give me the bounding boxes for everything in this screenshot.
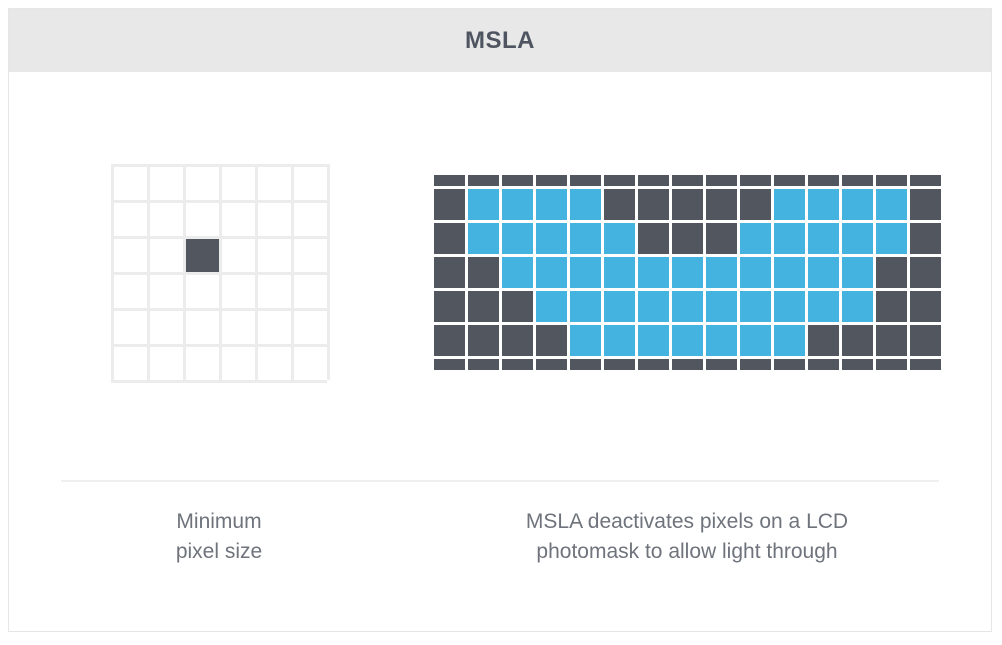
- photomask-pixel-grid: [434, 155, 941, 390]
- photomask-pixel-inactive: [706, 359, 737, 370]
- photomask-pixel-inactive: [434, 223, 465, 254]
- photomask-pixel-active: [604, 325, 635, 356]
- minimum-pixel-grid: [111, 164, 327, 380]
- msla-card: MSLA Minimum pixel size MSLA deactivates…: [8, 8, 992, 632]
- photomask-pixel-inactive: [570, 359, 601, 370]
- grid-line-horizontal: [111, 344, 327, 347]
- photomask-pixel-active: [774, 257, 805, 288]
- photomask-pixel-active: [672, 325, 703, 356]
- photomask-pixel-active: [842, 291, 873, 322]
- photomask-pixel-inactive: [536, 359, 567, 370]
- photomask-pixel-inactive: [672, 223, 703, 254]
- photomask-pixel-inactive: [604, 175, 635, 186]
- photomask-pixel-inactive: [706, 223, 737, 254]
- photomask-pixel-inactive: [808, 325, 839, 356]
- photomask-pixel-inactive: [468, 175, 499, 186]
- photomask-caption: MSLA deactivates pixels on a LCD photoma…: [429, 507, 991, 567]
- photomask-pixel-inactive: [468, 291, 499, 322]
- photomask-pixel-active: [808, 291, 839, 322]
- page-title: MSLA: [465, 27, 535, 55]
- photomask-pixel-inactive: [910, 189, 941, 220]
- photomask-pixel-active: [638, 325, 669, 356]
- photomask-pixel-inactive: [740, 175, 771, 186]
- minimum-pixel-caption-text: Minimum pixel size: [9, 507, 429, 567]
- photomask-pixel-inactive: [570, 175, 601, 186]
- photomask-pixel-inactive: [638, 189, 669, 220]
- photomask-pixel-inactive: [706, 189, 737, 220]
- photomask-pixel-active: [536, 223, 567, 254]
- grid-line-horizontal: [111, 380, 327, 383]
- photomask-pixel-active: [808, 189, 839, 220]
- photomask-pixel-inactive: [842, 325, 873, 356]
- photomask-pixel-inactive: [774, 359, 805, 370]
- photomask-pixel-inactive: [910, 223, 941, 254]
- photomask-pixel-inactive: [876, 325, 907, 356]
- photomask-pixel-inactive: [808, 359, 839, 370]
- photomask-pixel-inactive: [706, 175, 737, 186]
- photomask-pixel-inactive: [468, 359, 499, 370]
- photomask-pixel-inactive: [638, 175, 669, 186]
- photomask-pixel-inactive: [434, 257, 465, 288]
- photomask-pixel-active: [570, 325, 601, 356]
- photomask-pixel-active: [740, 325, 771, 356]
- photomask-pixel-active: [604, 223, 635, 254]
- photomask-pixel-active: [842, 223, 873, 254]
- photomask-pixel-inactive: [910, 291, 941, 322]
- photomask-pixel-active: [774, 223, 805, 254]
- photomask-pixel-inactive: [434, 189, 465, 220]
- captions-row: Minimum pixel size MSLA deactivates pixe…: [9, 507, 991, 567]
- photomask-pixel-active: [706, 291, 737, 322]
- photomask-pixel-inactive: [434, 291, 465, 322]
- grid-line-vertical: [219, 164, 222, 380]
- photomask-pixel-active: [638, 291, 669, 322]
- photomask-pixel-active: [468, 223, 499, 254]
- photomask-pixel-inactive: [740, 189, 771, 220]
- photomask-pixel-inactive: [774, 175, 805, 186]
- photomask-pixel-inactive: [502, 359, 533, 370]
- photomask-pixel-active: [604, 257, 635, 288]
- photomask-pixel-inactive: [434, 175, 465, 186]
- grid-line-vertical: [327, 164, 330, 380]
- photomask-pixel-active: [502, 257, 533, 288]
- minimum-pixel-cell: [186, 239, 219, 272]
- photomask-pixel-active: [774, 291, 805, 322]
- photomask-pixel-inactive: [502, 291, 533, 322]
- card-body: Minimum pixel size MSLA deactivates pixe…: [9, 72, 991, 631]
- photomask-pixel-active: [706, 257, 737, 288]
- photomask-pixel-active: [706, 325, 737, 356]
- photomask-pixel-active: [876, 189, 907, 220]
- photomask-pixel-inactive: [434, 359, 465, 370]
- photomask-pixel-inactive: [672, 189, 703, 220]
- photomask-pixel-active: [638, 257, 669, 288]
- photomask-pixel-inactive: [876, 257, 907, 288]
- photomask-pixel-active: [774, 325, 805, 356]
- photomask-pixel-active: [536, 189, 567, 220]
- grid-line-horizontal: [111, 308, 327, 311]
- photomask-pixel-inactive: [876, 175, 907, 186]
- photomask-pixel-active: [468, 189, 499, 220]
- photomask-pixel-active: [502, 223, 533, 254]
- photomask-pixel-active: [570, 223, 601, 254]
- photomask-pixel-active: [604, 291, 635, 322]
- photomask-pixel-active: [774, 189, 805, 220]
- photomask-pixel-inactive: [910, 359, 941, 370]
- photomask-pixel-inactive: [638, 223, 669, 254]
- photomask-pixel-active: [808, 257, 839, 288]
- card-header: MSLA: [9, 9, 991, 72]
- grid-line-vertical: [291, 164, 294, 380]
- photomask-pixel-inactive: [876, 359, 907, 370]
- photomask-pixel-inactive: [876, 291, 907, 322]
- photomask-pixel-active: [570, 257, 601, 288]
- photomask-pixel-active: [740, 223, 771, 254]
- photomask-pixel-active: [842, 257, 873, 288]
- photomask-pixel-active: [672, 291, 703, 322]
- photomask-pixel-inactive: [808, 175, 839, 186]
- photomask-pixel-inactive: [604, 359, 635, 370]
- photomask-pixel-inactive: [842, 175, 873, 186]
- photomask-pixel-active: [740, 291, 771, 322]
- photomask-pixel-active: [502, 189, 533, 220]
- photomask-pixel-active: [808, 223, 839, 254]
- photomask-pixel-inactive: [536, 325, 567, 356]
- photomask-pixel-inactive: [638, 359, 669, 370]
- photomask-pixel-active: [876, 223, 907, 254]
- photomask-pixel-inactive: [502, 175, 533, 186]
- photomask-pixel-active: [570, 189, 601, 220]
- minimum-pixel-panel: [9, 164, 429, 380]
- photomask-pixel-inactive: [604, 189, 635, 220]
- photomask-pixel-active: [842, 189, 873, 220]
- photomask-pixel-inactive: [910, 257, 941, 288]
- photomask-pixel-inactive: [842, 359, 873, 370]
- photomask-pixel-inactive: [434, 325, 465, 356]
- photomask-pixel-active: [570, 291, 601, 322]
- photomask-pixel-inactive: [672, 359, 703, 370]
- photomask-pixel-active: [672, 257, 703, 288]
- photomask-pixel-inactive: [910, 175, 941, 186]
- photomask-caption-text: MSLA deactivates pixels on a LCD photoma…: [429, 507, 945, 567]
- grid-line-vertical: [255, 164, 258, 380]
- photomask-panel: [429, 155, 991, 390]
- minimum-pixel-caption: Minimum pixel size: [9, 507, 429, 567]
- photomask-pixel-inactive: [468, 257, 499, 288]
- section-divider: [61, 480, 939, 482]
- photomask-pixel-inactive: [672, 175, 703, 186]
- photomask-pixel-inactive: [740, 359, 771, 370]
- visuals-row: [9, 72, 991, 472]
- photomask-pixel-inactive: [910, 325, 941, 356]
- photomask-pixel-inactive: [536, 175, 567, 186]
- photomask-pixel-active: [536, 291, 567, 322]
- photomask-pixel-inactive: [502, 325, 533, 356]
- photomask-pixel-inactive: [468, 325, 499, 356]
- photomask-pixel-active: [536, 257, 567, 288]
- photomask-pixel-active: [740, 257, 771, 288]
